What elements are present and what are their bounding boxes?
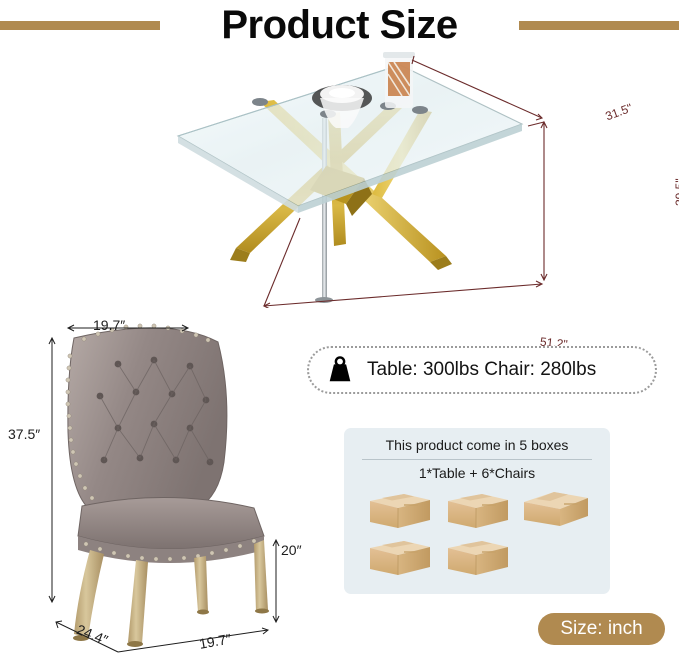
table-figure: 31.5" 29.5" 51.2" xyxy=(150,48,550,308)
package-box-3 xyxy=(520,488,592,532)
packaging-subtitle: 1*Table + 6*Chairs xyxy=(360,465,594,481)
table-height-label: 29.5" xyxy=(674,178,679,206)
chair-figure xyxy=(18,312,318,656)
weight-icon xyxy=(325,355,355,385)
weight-capacity-text: Table: 300lbs Chair: 280lbs xyxy=(367,359,596,381)
chair-seat xyxy=(78,497,264,563)
packaging-title: This product come in 5 boxes xyxy=(360,437,594,453)
package-box-4 xyxy=(364,535,436,579)
glass-table-illustration xyxy=(150,48,550,308)
size-unit-badge: Size: inch xyxy=(538,613,665,645)
weight-capacity-banner: Table: 300lbs Chair: 280lbs xyxy=(307,346,657,394)
page-header: Product Size xyxy=(0,0,679,50)
page-title: Product Size xyxy=(0,0,679,50)
chair-seat-height-label: 20″ xyxy=(281,543,302,557)
chair-backrest xyxy=(66,324,227,512)
packaging-box-grid xyxy=(360,488,594,579)
package-box-5 xyxy=(442,535,514,579)
table-width-label: 31.5" xyxy=(604,102,634,123)
size-unit-label: Size: inch xyxy=(560,618,642,640)
dining-chair-illustration xyxy=(18,312,318,656)
package-box-1 xyxy=(364,488,436,532)
chair-height-label: 37.5″ xyxy=(8,427,40,441)
chair-top-width-label: 19.7″ xyxy=(93,318,125,332)
tabletop-decor-vase xyxy=(383,52,415,108)
packaging-divider xyxy=(362,459,592,460)
packaging-panel: This product come in 5 boxes 1*Table + 6… xyxy=(344,428,610,594)
package-box-2 xyxy=(442,488,514,532)
